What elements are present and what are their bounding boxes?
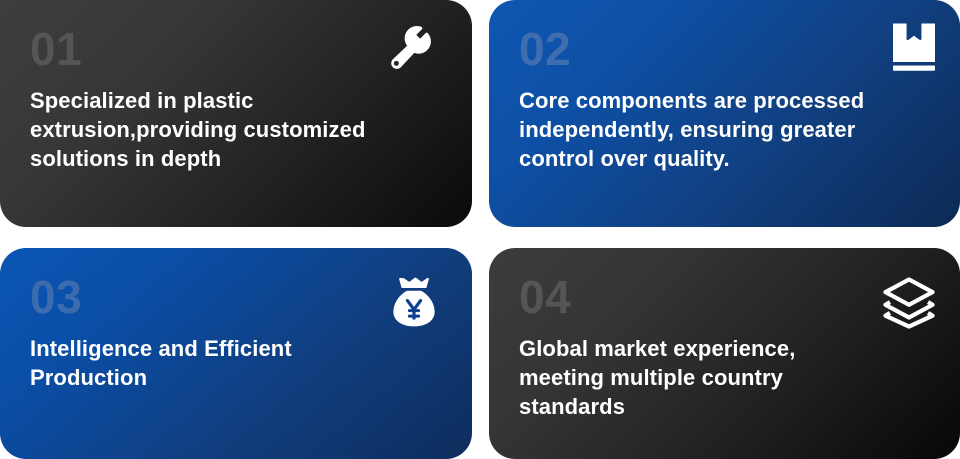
feature-card-04[interactable]: 04 Global market experience, meeting mul… bbox=[489, 248, 960, 459]
card-number-03: 03 bbox=[30, 274, 442, 320]
card-number-04: 04 bbox=[519, 274, 930, 320]
card-description-01: Specialized in plastic extrusion,providi… bbox=[30, 86, 442, 173]
feature-card-01[interactable]: 01 Specialized in plastic extrusion,prov… bbox=[0, 0, 472, 227]
wrench-icon bbox=[384, 24, 436, 76]
book-bookmark-icon bbox=[886, 20, 942, 76]
card-description-03: Intelligence and Efficient Production bbox=[30, 334, 442, 392]
layers-stack-icon bbox=[880, 274, 938, 332]
feature-card-grid: 01 Specialized in plastic extrusion,prov… bbox=[0, 0, 960, 459]
feature-card-02[interactable]: 02 Core components are processed indepen… bbox=[489, 0, 960, 227]
card-description-04: Global market experience, meeting multip… bbox=[519, 334, 930, 421]
feature-card-03[interactable]: 03 Intelligence and Efficient Production bbox=[0, 248, 472, 459]
money-bag-yen-icon bbox=[384, 272, 444, 332]
card-description-02: Core components are processed independen… bbox=[519, 86, 930, 173]
card-number-02: 02 bbox=[519, 26, 930, 72]
card-number-01: 01 bbox=[30, 26, 442, 72]
